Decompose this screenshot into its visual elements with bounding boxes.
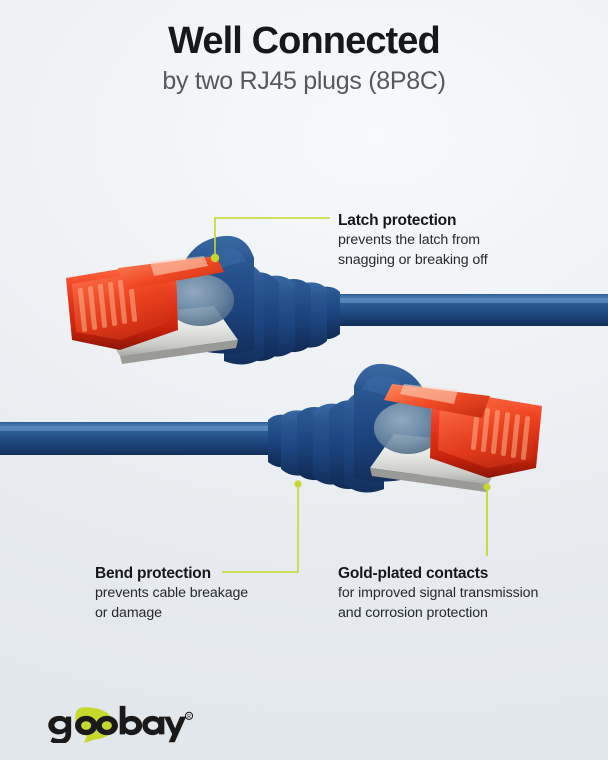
callout-bend-line-2: or damage xyxy=(95,603,248,623)
infographic-page: Well Connected by two RJ45 plugs (8P8C) xyxy=(0,0,608,760)
callout-gold-line-1: for improved signal transmission xyxy=(338,583,538,603)
callout-gold-plated-contacts: Gold-plated contacts for improved signal… xyxy=(338,565,538,623)
lower-cable-assembly xyxy=(0,364,542,493)
goobay-logo: R xyxy=(44,703,194,743)
callout-latch-line-1: prevents the latch from xyxy=(338,230,488,250)
logo-registered-mark: R xyxy=(185,712,192,720)
callout-gold-line-2: and corrosion protection xyxy=(338,603,538,623)
product-illustration xyxy=(0,0,608,760)
logo-wordmark xyxy=(48,706,186,743)
callout-bend-protection: Bend protection prevents cable breakage … xyxy=(95,565,248,623)
callout-bend-line-1: prevents cable breakage xyxy=(95,583,248,603)
callout-gold-title: Gold-plated contacts xyxy=(338,565,538,583)
upper-cable-assembly xyxy=(66,236,608,365)
callout-latch-title: Latch protection xyxy=(338,212,488,230)
callout-bend-title: Bend protection xyxy=(95,565,248,583)
callout-latch-line-2: snagging or breaking off xyxy=(338,250,488,270)
callout-latch-protection: Latch protection prevents the latch from… xyxy=(338,212,488,270)
svg-text:R: R xyxy=(187,714,191,720)
